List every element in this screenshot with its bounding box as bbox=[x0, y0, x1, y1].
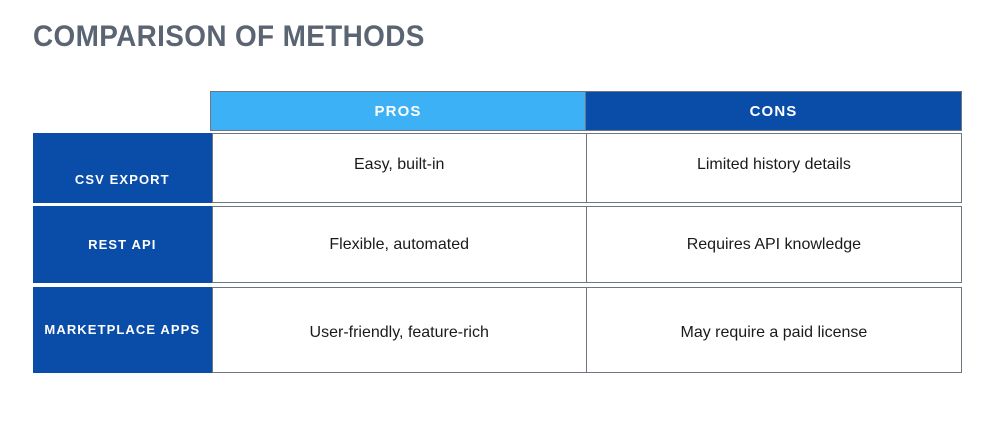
row-header-label: MARKETPLACE APPS bbox=[44, 321, 200, 339]
cell-text: May require a paid license bbox=[681, 324, 868, 342]
cell-text: Easy, built-in bbox=[354, 156, 444, 174]
cell-cons-rest-api: Requires API knowledge bbox=[586, 206, 962, 283]
table-header-row: PROS CONS bbox=[210, 91, 962, 131]
column-header-pros-label: PROS bbox=[375, 103, 422, 120]
column-header-pros: PROS bbox=[210, 91, 585, 131]
cell-pros-rest-api: Flexible, automated bbox=[212, 206, 586, 283]
row-header-rest-api: REST API bbox=[33, 206, 212, 283]
column-header-cons: CONS bbox=[585, 91, 962, 131]
cell-pros-marketplace-apps: User-friendly, feature-rich bbox=[212, 287, 586, 373]
cell-cons-marketplace-apps: May require a paid license bbox=[586, 287, 962, 373]
cell-text: User-friendly, feature-rich bbox=[310, 324, 489, 342]
row-header-csv-export: CSV EXPORT bbox=[33, 133, 212, 203]
row-header-marketplace-apps: MARKETPLACE APPS bbox=[33, 287, 212, 373]
row-header-label: REST API bbox=[88, 236, 156, 254]
column-header-cons-label: CONS bbox=[750, 103, 798, 120]
cell-text: Requires API knowledge bbox=[687, 236, 861, 254]
row-header-label: CSV EXPORT bbox=[75, 171, 170, 189]
table-row: REST API Flexible, automated Requires AP… bbox=[33, 206, 962, 283]
table-row: CSV EXPORT Easy, built-in Limited histor… bbox=[33, 133, 962, 203]
cell-cons-csv-export: Limited history details bbox=[586, 133, 962, 203]
cell-pros-csv-export: Easy, built-in bbox=[212, 133, 586, 203]
page-title: COMPARISON OF METHODS bbox=[33, 20, 425, 54]
table-body: CSV EXPORT Easy, built-in Limited histor… bbox=[33, 133, 962, 373]
table-row: MARKETPLACE APPS User-friendly, feature-… bbox=[33, 287, 962, 373]
cell-text: Flexible, automated bbox=[329, 236, 469, 254]
cell-text: Limited history details bbox=[697, 156, 851, 174]
comparison-table: PROS CONS CSV EXPORT Easy, built-in Limi… bbox=[33, 91, 962, 376]
